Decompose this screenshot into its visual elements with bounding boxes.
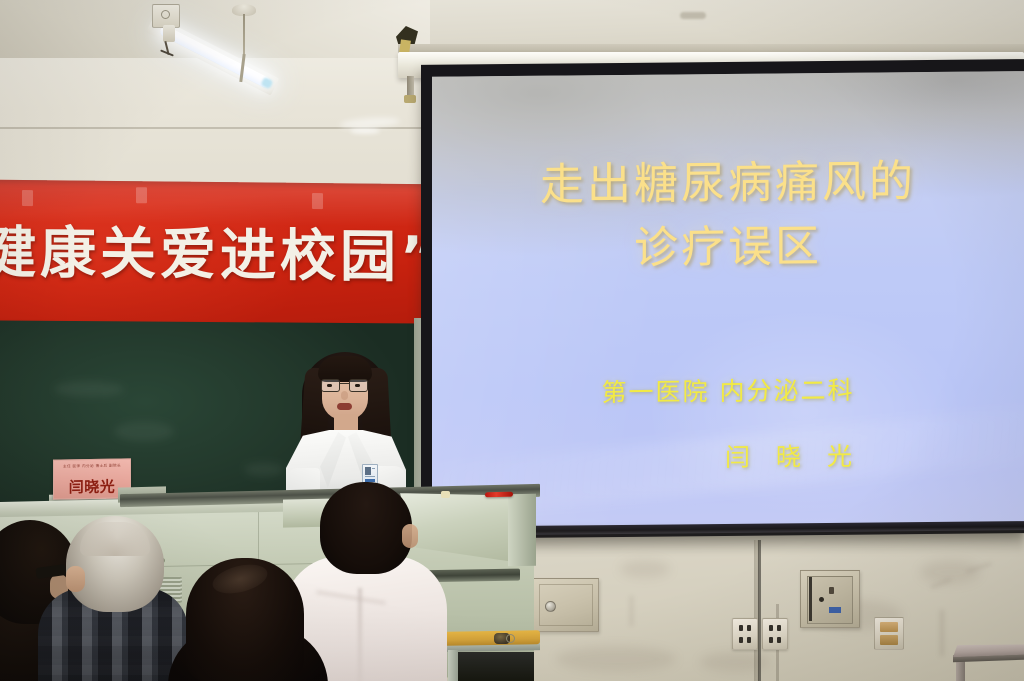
ceiling-vent bbox=[680, 12, 706, 19]
screen-bracket-clip bbox=[404, 95, 416, 103]
red-banner: 健康关爱进校园” 主题活动 bbox=[0, 180, 434, 328]
wall-scuff bbox=[940, 610, 944, 656]
light-socket bbox=[163, 25, 175, 42]
badge-text-line bbox=[372, 468, 375, 469]
power-outlet-right[interactable] bbox=[762, 618, 788, 650]
wall-access-panel[interactable] bbox=[533, 578, 599, 632]
wall-vertical-seam-dark bbox=[758, 540, 761, 681]
keyring[interactable] bbox=[506, 634, 515, 643]
outlet-slot bbox=[739, 637, 743, 643]
desk-panel-line bbox=[258, 512, 259, 564]
light-mount-screw bbox=[161, 10, 170, 19]
glasses-lens-right bbox=[349, 379, 368, 392]
screen-surface: 走出糖尿病痛风的 诊疗误区 第一医院 内分泌二科 闫 晓 光 bbox=[432, 71, 1024, 529]
hanging-cable bbox=[243, 14, 245, 56]
chalk-smudge bbox=[244, 462, 284, 476]
outlet-slot bbox=[747, 625, 751, 631]
desk-right-edge bbox=[508, 494, 536, 566]
outlet-slot bbox=[739, 625, 743, 631]
banner-tape bbox=[312, 193, 323, 209]
outlet-slot bbox=[747, 637, 751, 643]
light-switch[interactable] bbox=[874, 617, 904, 650]
audience-thinning-hair bbox=[80, 522, 150, 556]
shirt-fold bbox=[358, 588, 362, 681]
chalk-smudge bbox=[114, 421, 174, 441]
wall-scuff bbox=[630, 596, 633, 626]
banner-tape bbox=[22, 190, 33, 206]
wall-stain bbox=[556, 646, 676, 672]
amber-table-shadow bbox=[458, 652, 534, 681]
classroom-photograph: 健康关爱进校园” 主题活动 主任 医师 内分泌 博士后 副院长 闫晓光 bbox=[0, 0, 1024, 681]
audience-member-white-shirt-head bbox=[320, 482, 412, 574]
chalk-piece[interactable] bbox=[441, 491, 450, 498]
slide-presenter-name: 闫 晓 光 bbox=[432, 435, 1024, 477]
presenter-eye-right bbox=[355, 384, 360, 387]
glasses-bridge bbox=[339, 383, 349, 384]
red-marker-pen[interactable] bbox=[485, 492, 513, 498]
banner-tape bbox=[136, 187, 147, 203]
amber-table-leg bbox=[448, 650, 458, 681]
panel-label bbox=[829, 607, 841, 613]
presenter-nose bbox=[341, 391, 348, 400]
panel-hinge bbox=[809, 577, 812, 621]
glasses-lens-left bbox=[321, 379, 340, 392]
electrical-access-panel[interactable] bbox=[800, 570, 860, 628]
wall-highlight-secondary bbox=[350, 128, 380, 134]
badge-text-line bbox=[365, 476, 375, 477]
badge-photo bbox=[365, 467, 371, 475]
outlet-slot bbox=[777, 625, 781, 631]
slide-title: 走出糖尿病痛风的 诊疗误区 bbox=[432, 149, 1024, 282]
amber-table-top bbox=[444, 630, 540, 646]
right-table-leg bbox=[956, 659, 965, 681]
audience-ear bbox=[402, 524, 418, 548]
namecard-subtitle: 主任 医师 内分泌 博士后 副院长 bbox=[54, 463, 130, 470]
banner-text: 健康关爱进校园” 主题活动 bbox=[0, 208, 450, 294]
wall-stain bbox=[620, 560, 670, 578]
panel-knob[interactable] bbox=[829, 587, 834, 594]
switch-rocker-top[interactable] bbox=[880, 622, 898, 632]
glasses-icon bbox=[321, 379, 369, 390]
panel-door[interactable] bbox=[807, 576, 853, 624]
presenter-eye-left bbox=[327, 384, 332, 387]
panel-lock[interactable] bbox=[545, 601, 556, 612]
projection-screen[interactable]: 走出糖尿病痛风的 诊疗误区 第一医院 内分泌二科 闫 晓 光 bbox=[421, 59, 1024, 539]
audience-ear bbox=[66, 566, 85, 592]
panel-screw bbox=[819, 597, 824, 602]
projector-hotspot bbox=[645, 307, 965, 518]
presenter-mouth bbox=[337, 403, 352, 410]
power-outlet-left[interactable] bbox=[732, 618, 758, 650]
outlet-slot bbox=[769, 625, 773, 631]
switch-rocker-bottom[interactable] bbox=[880, 635, 898, 645]
chalk-smudge bbox=[54, 381, 124, 397]
slide-department: 第一医院 内分泌二科 bbox=[432, 369, 1024, 411]
outlet-slot bbox=[777, 637, 781, 643]
outlet-slot bbox=[769, 637, 773, 643]
